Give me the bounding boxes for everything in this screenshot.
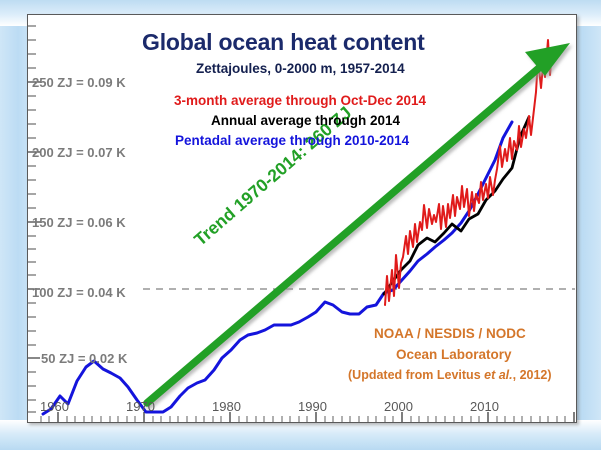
y-tick-label-50: 50 ZJ = 0.02 K (41, 352, 127, 366)
y-tick-label-200: 200 ZJ = 0.07 K (32, 146, 126, 160)
y-tick-label-150: 150 ZJ = 0.06 K (32, 216, 126, 230)
x-tick-label-1970: 1970 (126, 400, 155, 414)
x-tick-label-1960: 1960 (40, 400, 69, 414)
y-tick-label-100: 100 ZJ = 0.04 K (32, 286, 126, 300)
credit-agency: NOAA / NESDIS / NODC (374, 327, 526, 341)
x-tick-label-2000: 2000 (384, 400, 413, 414)
legend-item-pentadal: Pentadal average through 2010-2014 (175, 134, 409, 148)
chart-subtitle: Zettajoules, 0-2000 m, 1957-2014 (196, 62, 405, 76)
y-tick-label-250: 250 ZJ = 0.09 K (32, 76, 126, 90)
credit-source-pre: (Updated from Levitus (348, 368, 484, 382)
credit-source-etal: et al. (484, 368, 513, 382)
x-tick-label-1990: 1990 (298, 400, 327, 414)
credit-lab: Ocean Laboratory (396, 348, 512, 362)
legend-item-three-month: 3-month average through Oct-Dec 2014 (174, 94, 426, 108)
chart-figure: Global ocean heat content Zettajoules, 0… (0, 0, 601, 450)
credit-source-post: , 2012) (513, 368, 552, 382)
page-title: Global ocean heat content (142, 30, 425, 54)
x-tick-label-2010: 2010 (470, 400, 499, 414)
x-tick-label-1980: 1980 (212, 400, 241, 414)
credit-source: (Updated from Levitus et al., 2012) (348, 369, 552, 382)
legend-item-annual: Annual average through 2014 (211, 114, 400, 128)
